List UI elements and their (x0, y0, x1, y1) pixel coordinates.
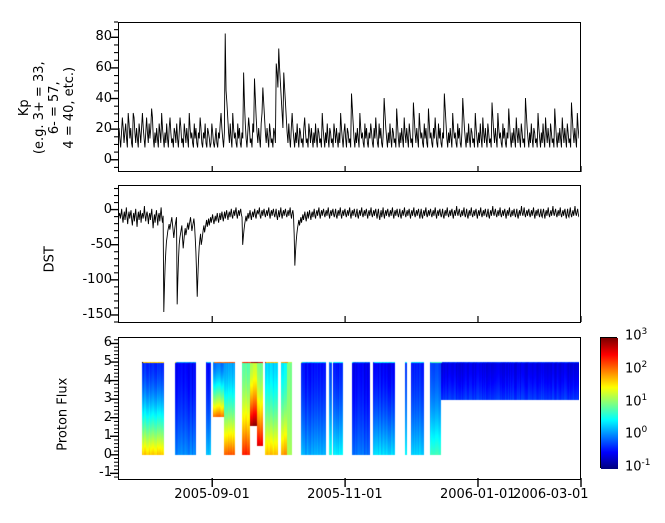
kp-ytick-80: 80 (95, 29, 112, 44)
kp-axis-label: Kp(e.g. 3+ = 33,6- = 57,4 = 40, etc.) (3, 41, 91, 191)
colorbar-tick-exponent: 0 (642, 425, 648, 435)
kp-ytick-20: 20 (95, 121, 112, 136)
kp-axis-label-line: 4 = 40, etc.) (62, 61, 77, 154)
dst-ytick--150: -150 (82, 307, 112, 322)
kp-axis-label-line: 6- = 57, (47, 61, 62, 154)
flux-axis-label-text: Proton Flux (56, 378, 71, 451)
colorbar-tick-base: 10 (625, 328, 642, 343)
dst-ytick--50: -50 (91, 237, 112, 252)
kp-panel (118, 22, 581, 172)
dst-axis-label: DST (28, 238, 73, 298)
kp-ytick-40: 40 (95, 91, 112, 106)
kp-series-plot (119, 23, 579, 170)
flux-ytick-3: 3 (104, 391, 112, 406)
colorbar-tick-base: 10 (625, 427, 642, 442)
colorbar-tick-1e-1: 10-1 (625, 458, 651, 474)
colorbar-gradient (601, 338, 618, 469)
flux-xtick-2006-03-01: 2006-03-01 (513, 487, 589, 502)
colorbar-tick-exponent: 3 (642, 327, 648, 337)
kp-ytick-60: 60 (95, 60, 112, 75)
colorbar-tick-base: 10 (625, 361, 642, 376)
kp-ytick-0: 0 (104, 152, 112, 167)
flux-ytick-5: 5 (104, 354, 112, 369)
dst-panel (118, 185, 581, 323)
dst-axis-label-text: DST (43, 246, 58, 272)
colorbar-tick-base: 10 (625, 394, 642, 409)
colorbar-tick-1e3: 103 (625, 327, 647, 343)
colorbar-tick-exponent: -1 (642, 458, 651, 468)
flux-xtick-2005-09-01: 2005-09-01 (174, 487, 250, 502)
flux-xtick-2005-11-01: 2005-11-01 (307, 487, 383, 502)
flux-ytick-0: 0 (104, 447, 112, 462)
flux-ytick-2: 2 (104, 410, 112, 425)
colorbar-tick-1e0: 100 (625, 425, 647, 441)
flux-ytick-1: 1 (104, 428, 112, 443)
colorbar-tick-exponent: 1 (642, 393, 648, 403)
dst-ytick--100: -100 (82, 272, 112, 287)
colorbar (600, 337, 617, 468)
flux-ytick--1: -1 (99, 465, 112, 480)
dst-ytick-0: 0 (104, 202, 112, 217)
proton-flux-heatmap (119, 338, 579, 478)
flux-ytick-4: 4 (104, 373, 112, 388)
kp-axis-label-line: Kp (17, 61, 32, 154)
kp-axis-label-text: Kp(e.g. 3+ = 33,6- = 57,4 = 40, etc.) (17, 61, 77, 154)
figure-canvas: Kp(e.g. 3+ = 33,6- = 57,4 = 40, etc.) 02… (0, 0, 665, 523)
colorbar-tick-1e1: 101 (625, 393, 647, 409)
flux-xtick-2006-01-01: 2006-01-01 (440, 487, 516, 502)
colorbar-tick-1e2: 102 (625, 360, 647, 376)
flux-panel (118, 337, 581, 480)
colorbar-tick-base: 10 (625, 459, 642, 474)
kp-axis-label-line: (e.g. 3+ = 33, (32, 61, 47, 154)
flux-axis-label: Proton Flux (41, 368, 86, 478)
colorbar-tick-exponent: 2 (642, 360, 648, 370)
flux-ytick-6: 6 (104, 335, 112, 350)
dst-series-plot (119, 186, 579, 321)
